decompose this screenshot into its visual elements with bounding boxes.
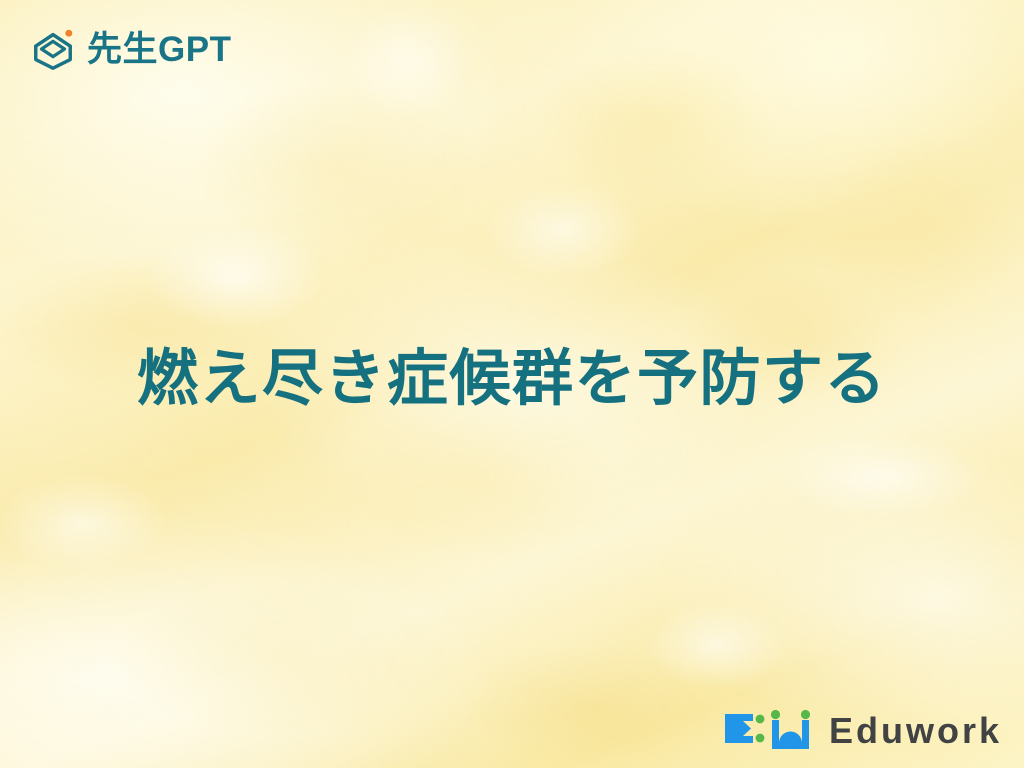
green-dot-icon <box>756 715 765 724</box>
green-dot-icon <box>771 710 780 719</box>
title-container: 燃え尽き症候群を予防する <box>0 340 1024 416</box>
orange-dot-icon <box>65 30 72 37</box>
eduwork-logo[interactable]: Eduwork <box>723 708 1002 754</box>
eduwork-w-mark-icon <box>772 720 809 749</box>
green-dot-icon <box>756 734 765 743</box>
eduwork-name: Eduwork <box>829 713 1002 749</box>
brand-logo[interactable]: 先生GPT <box>30 26 231 72</box>
slide-canvas: 先生GPT 燃え尽き症候群を予防する Eduwork <box>0 0 1024 768</box>
eduwork-mark-icon <box>723 708 815 754</box>
slide-title: 燃え尽き症候群を予防する <box>137 340 887 416</box>
green-dot-icon <box>801 710 810 719</box>
eduwork-e-mark-icon <box>725 714 753 743</box>
graduation-cap-icon <box>30 26 76 72</box>
brand-name: 先生GPT <box>87 32 231 67</box>
